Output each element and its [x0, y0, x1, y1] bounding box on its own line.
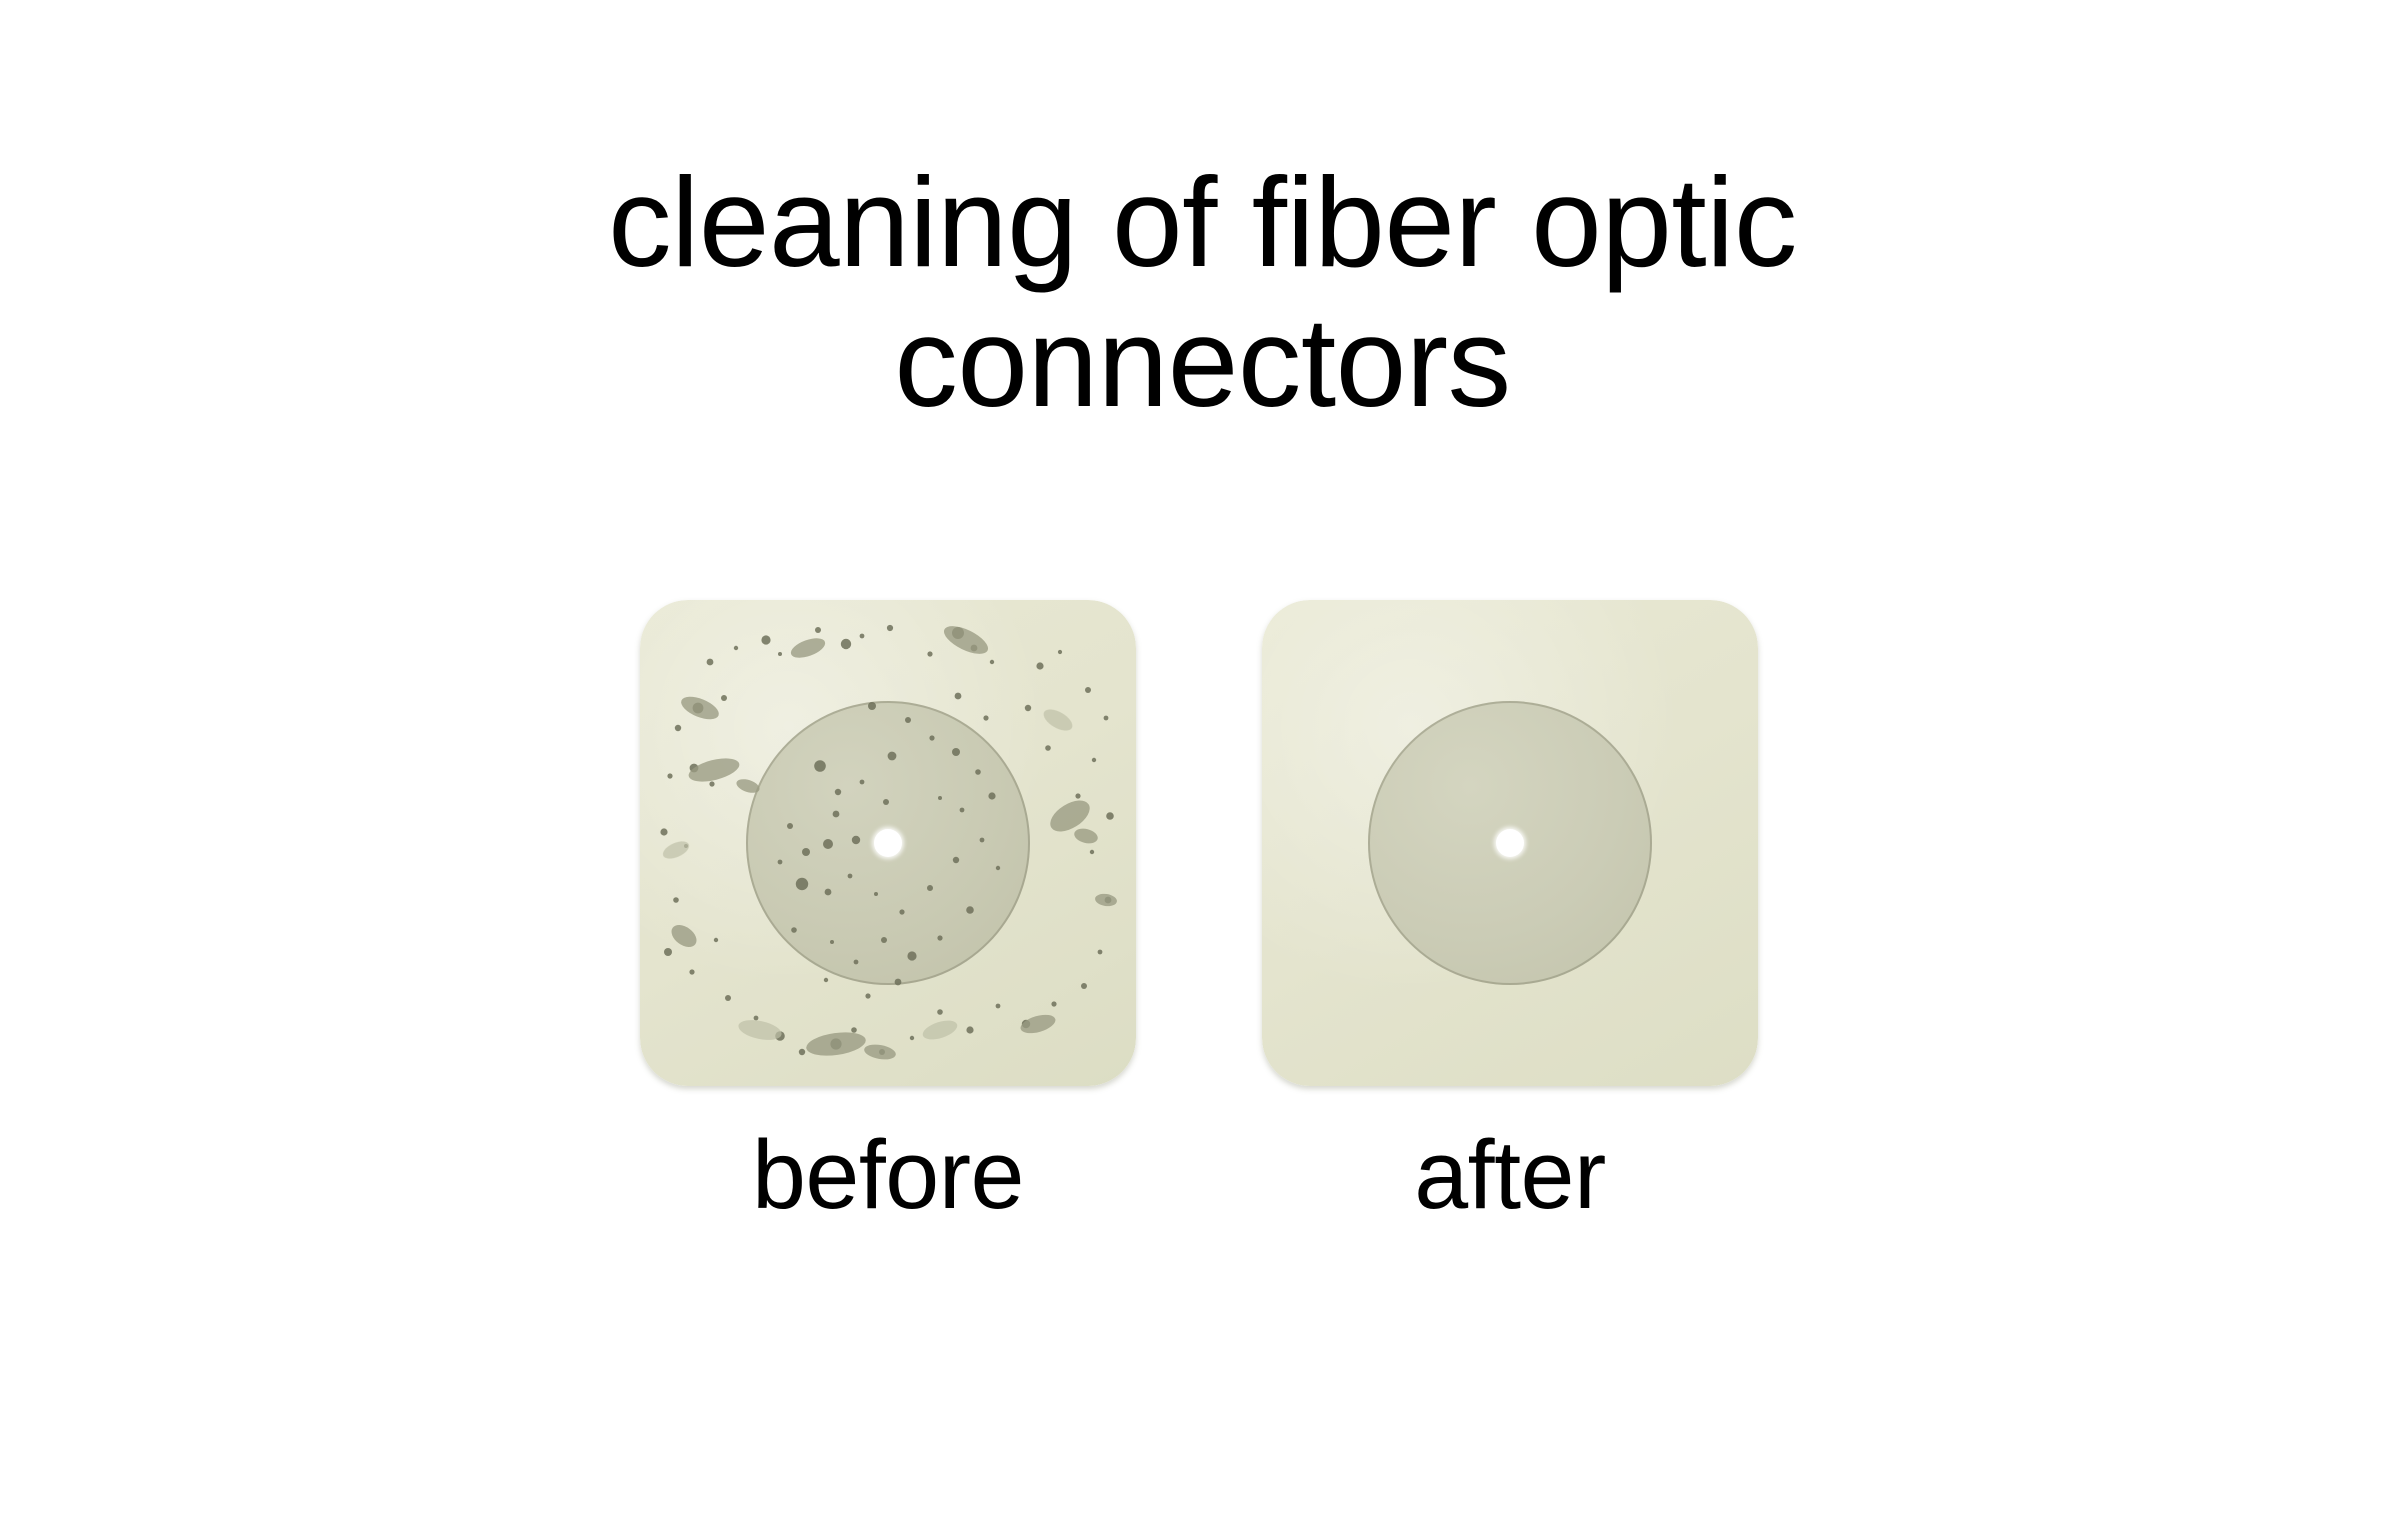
- caption-before: before: [640, 1120, 1136, 1230]
- fiber-core-after: [1496, 829, 1524, 857]
- connector-endface-after: [1262, 600, 1758, 1086]
- connector-panel-before: before: [640, 600, 1136, 1086]
- page-title: cleaning of fiber optic connectors: [0, 152, 2405, 432]
- caption-after: after: [1262, 1120, 1758, 1230]
- fiber-core-before: [874, 829, 902, 857]
- connector-panel-after: after: [1262, 600, 1758, 1086]
- connector-endface-before: [640, 600, 1136, 1086]
- before-after-comparison: before after: [0, 600, 2405, 1320]
